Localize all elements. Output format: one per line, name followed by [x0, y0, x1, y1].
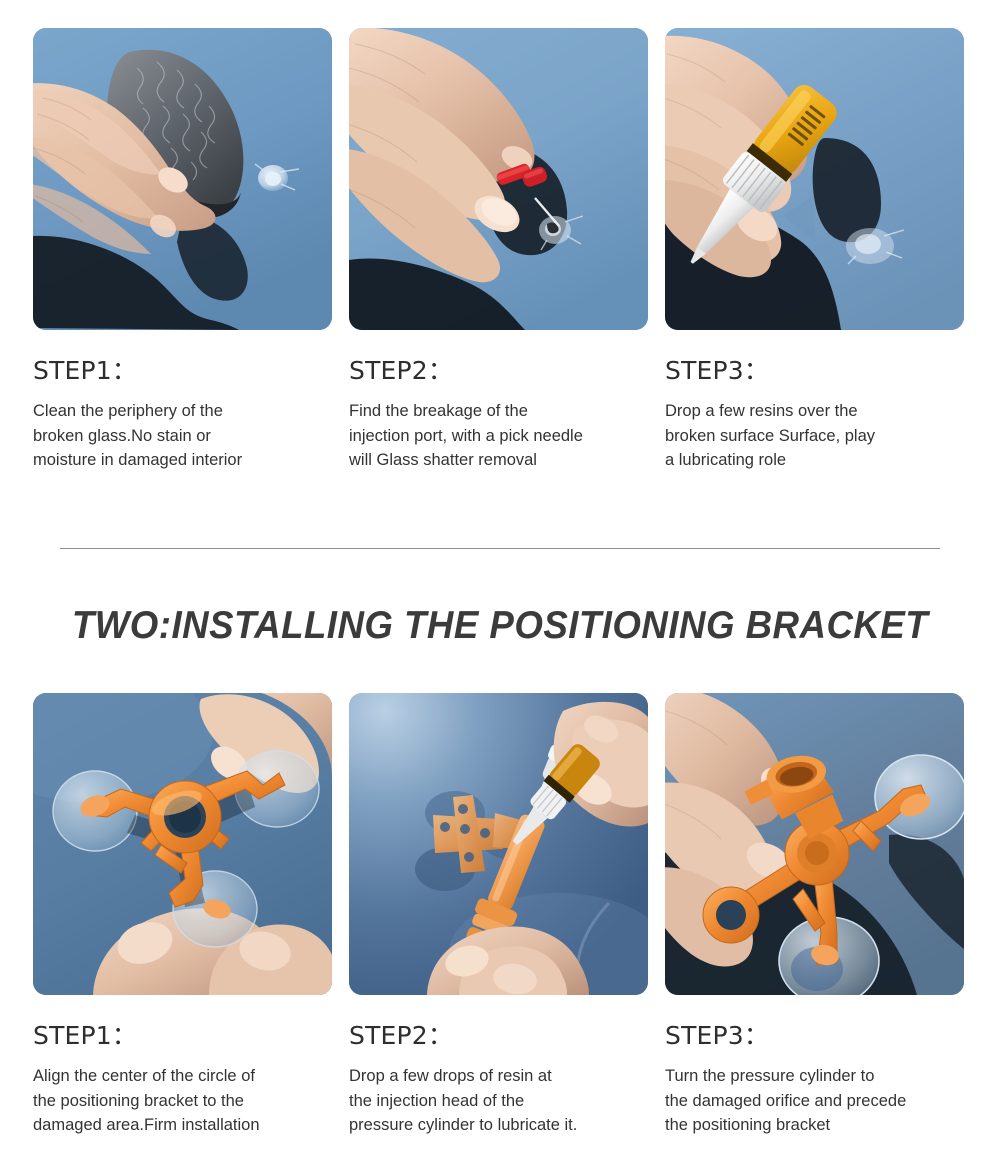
step-title: STEP1： [33, 1023, 332, 1048]
step-card-1-2: STEP2： Find the breakage of the injectio… [349, 28, 648, 473]
section-divider [60, 548, 940, 549]
instruction-sheet: STEP1： Clean the periphery of the broken… [0, 0, 1000, 1160]
step-body: Turn the pressure cylinder to the damage… [665, 1064, 964, 1138]
step-body: Drop a few drops of resin at the injecti… [349, 1064, 648, 1138]
step-card-1-1: STEP1： Clean the periphery of the broken… [33, 28, 332, 473]
step-title: STEP1： [33, 358, 332, 383]
step-title: STEP2： [349, 1023, 648, 1048]
step-body: Clean the periphery of the broken glass.… [33, 399, 332, 473]
step-card-1-3: STEP3： Drop a few resins over the broken… [665, 28, 964, 473]
step-title: STEP2： [349, 358, 648, 383]
step-card-2-2: STEP2： Drop a few drops of resin at the … [349, 693, 648, 1138]
step-card-2-1: STEP1： Align the center of the circle of… [33, 693, 332, 1138]
photo-resin-drop [665, 28, 964, 330]
step-body: Find the breakage of the injection port,… [349, 399, 648, 473]
step-body: Align the center of the circle of the po… [33, 1064, 332, 1138]
step-row-one: STEP1： Clean the periphery of the broken… [33, 28, 965, 473]
photo-pick-needle [349, 28, 648, 330]
section-heading: TWO:INSTALLING THE POSITIONING BRACKET [30, 604, 970, 648]
photo-turn-cylinder [665, 693, 964, 995]
step-title: STEP3： [665, 358, 964, 383]
step-title: STEP3： [665, 1023, 964, 1048]
photo-bracket-align [33, 693, 332, 995]
step-row-two: STEP1： Align the center of the circle of… [33, 693, 965, 1138]
step-body: Drop a few resins over the broken surfac… [665, 399, 964, 473]
step-card-2-3: STEP3： Turn the pressure cylinder to the… [665, 693, 964, 1138]
photo-cleaning-glass [33, 28, 332, 330]
photo-resin-into-cylinder [349, 693, 648, 995]
